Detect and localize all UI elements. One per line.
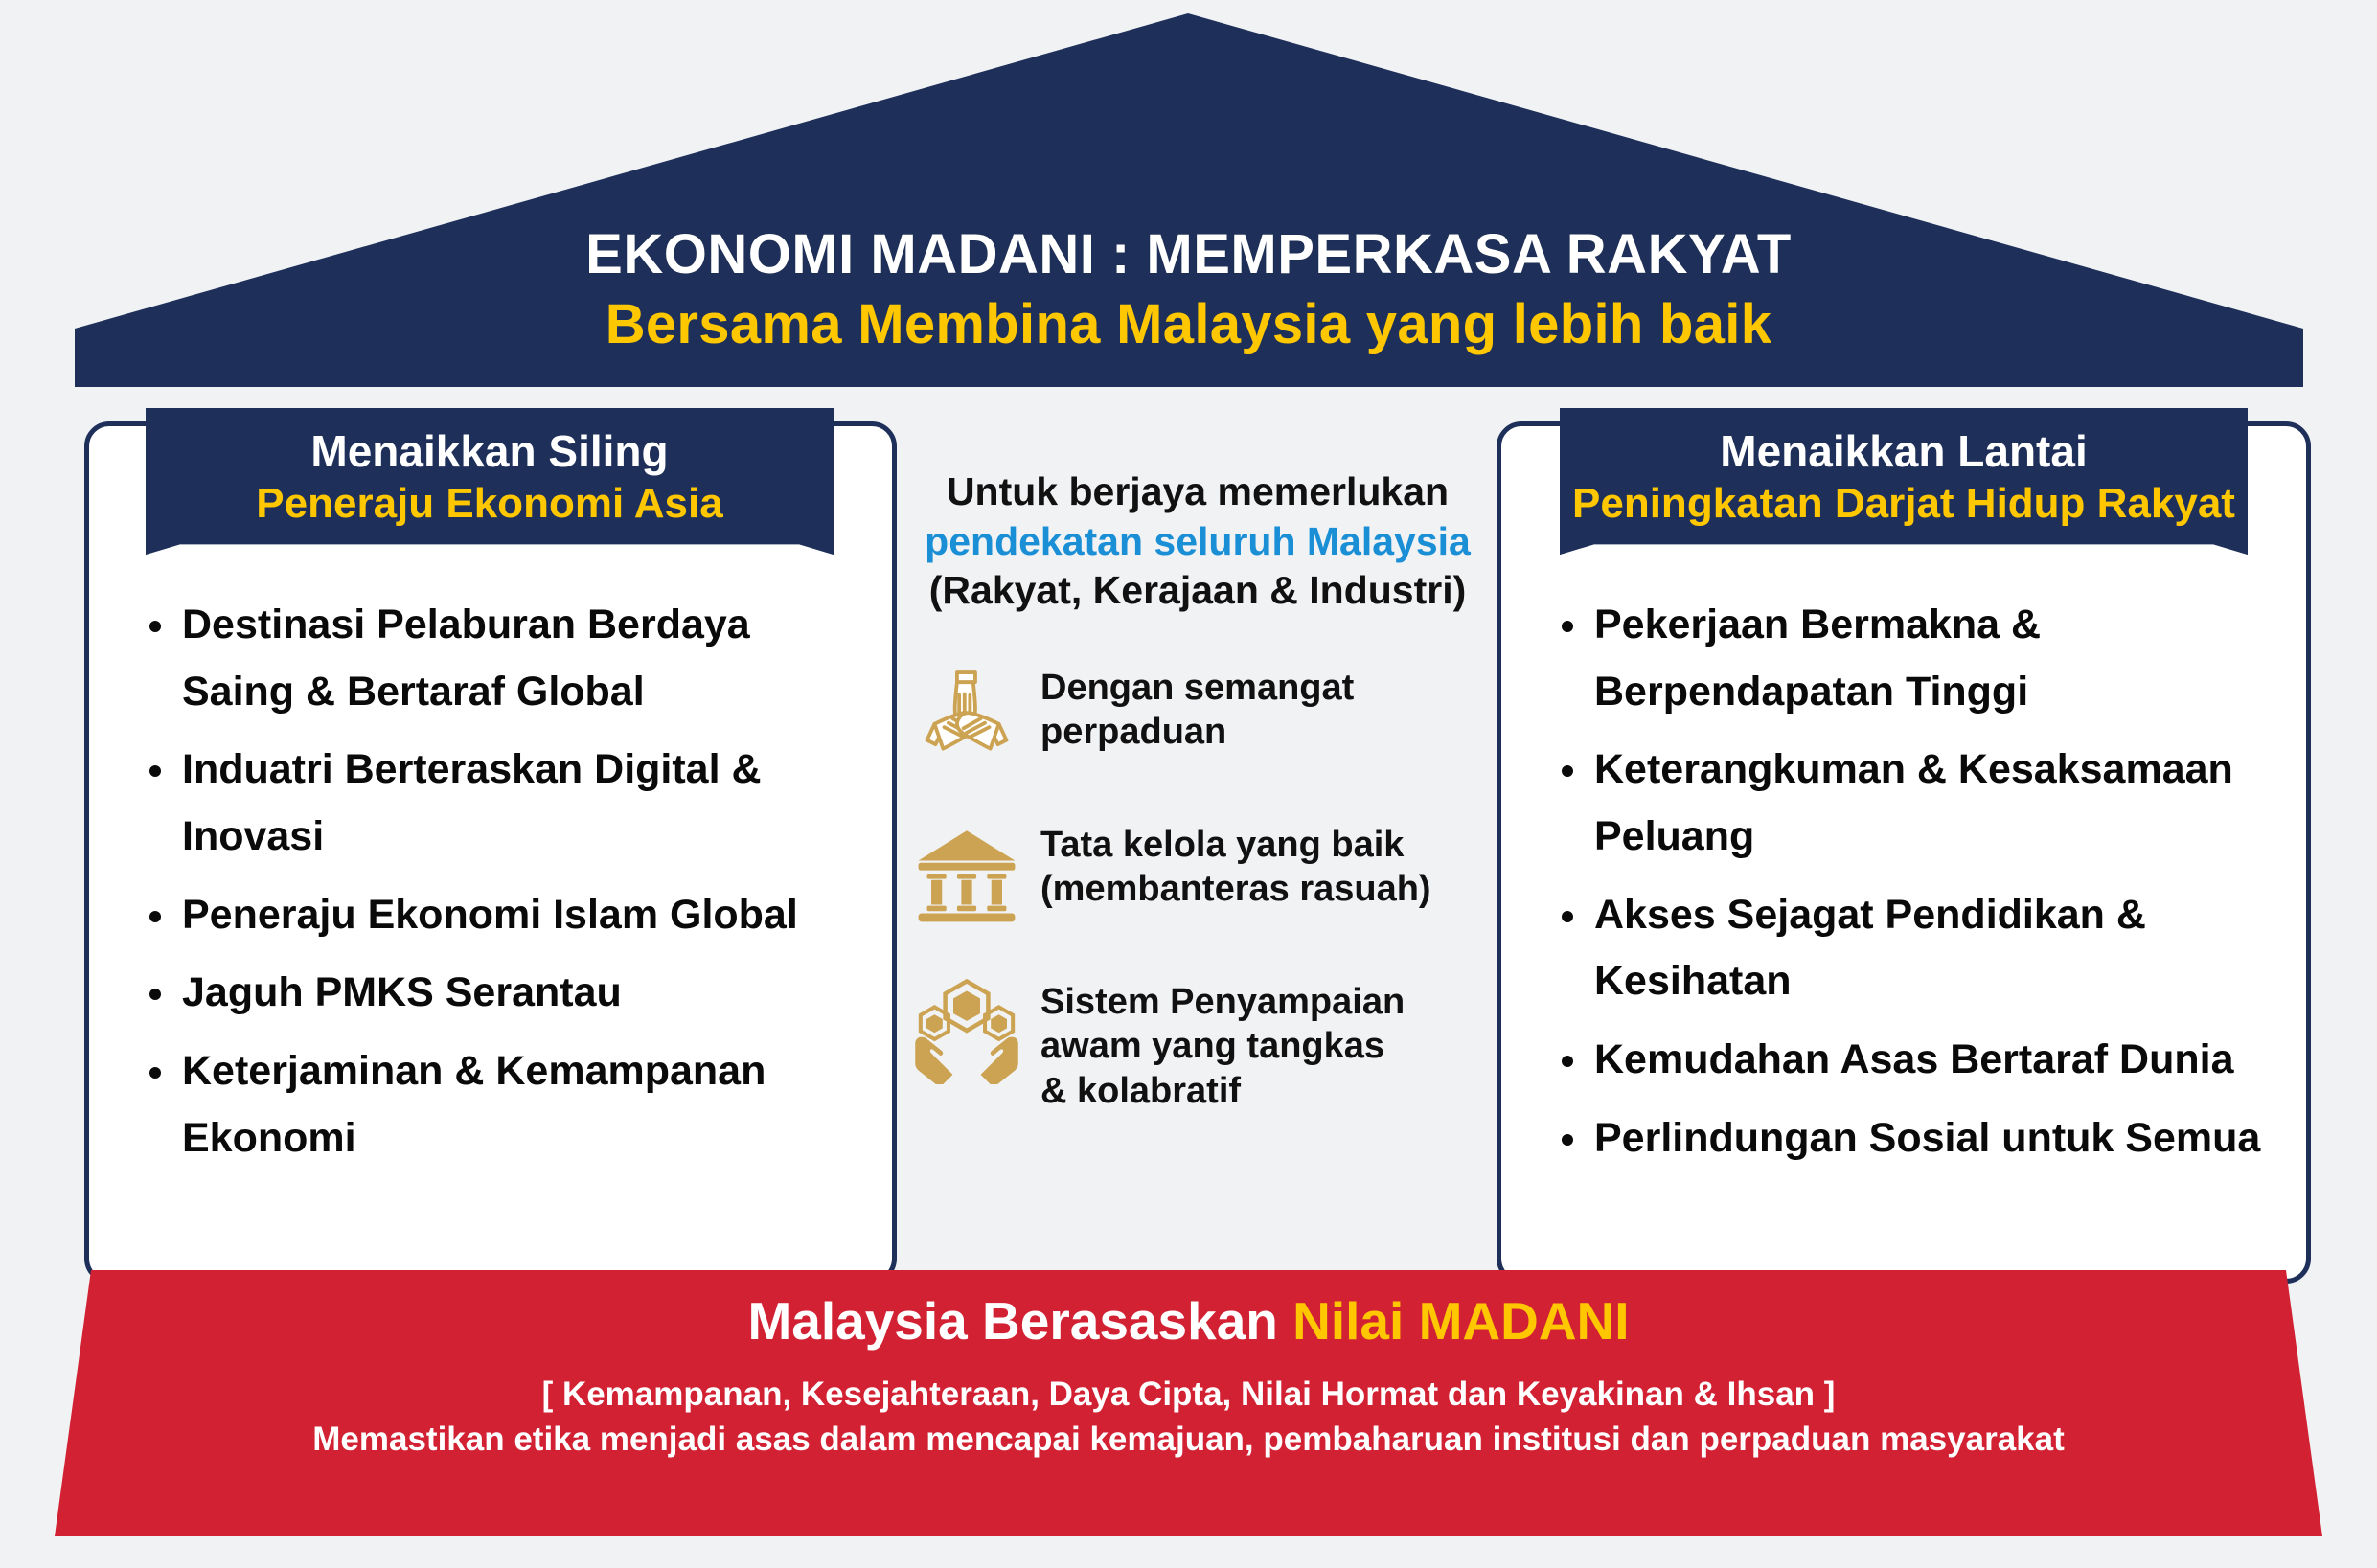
list-item-label: Keterjaminan & Kemampanan Ekonomi [182, 1048, 766, 1161]
list-item-label: Peneraju Ekonomi Islam Global [182, 892, 798, 938]
center-item-tata-kelola-text: Tata kelola yang baik (membanteras rasua… [1040, 817, 1431, 912]
center-item-perpaduan: Dengan semangat perpaduan [910, 660, 1485, 773]
center-item-line1: Sistem Penyampaian [1040, 980, 1405, 1024]
list-item: Destinasi Pelaburan Berdaya Saing & Bert… [144, 592, 862, 725]
list-item-label: Induatri Berteraskan Digital & Inovasi [182, 746, 762, 859]
bullet-dot-icon [1562, 911, 1573, 922]
center-item-penyampaian-text: Sistem Penyampaian awam yang tangkas & k… [1040, 974, 1405, 1113]
list-item-label: Pekerjaan Bermakna & Berpendapatan Tingg… [1594, 602, 2041, 715]
bullet-dot-icon [149, 621, 161, 632]
list-item-label: Jaguh PMKS Serantau [182, 969, 622, 1015]
left-pillar-banner-subtitle: Peneraju Ekonomi Asia [155, 479, 824, 530]
roof-shape-icon [0, 0, 2377, 387]
center-item-line1: Tata kelola yang baik [1040, 823, 1431, 867]
bullet-dot-icon [1562, 765, 1573, 777]
list-item-label: Destinasi Pelaburan Berdaya Saing & Bert… [182, 602, 750, 715]
left-pillar-bullet-list: Destinasi Pelaburan Berdaya Saing & Bert… [144, 592, 862, 1183]
center-item-line2: (membanteras rasuah) [1040, 867, 1431, 911]
three-hands-together-icon [910, 660, 1023, 773]
list-item: Kemudahan Asas Bertaraf Dunia [1556, 1027, 2313, 1094]
center-lead-highlight: pendekatan seluruh Malaysia [910, 517, 1485, 567]
center-item-tata-kelola: Tata kelola yang baik (membanteras rasua… [910, 817, 1485, 930]
list-item-label: Akses Sejagat Pendidikan & Kesihatan [1594, 892, 2146, 1005]
right-pillar-banner: Menaikkan Lantai Peningkatan Darjat Hidu… [1560, 408, 2248, 555]
bullet-dot-icon [1562, 1056, 1573, 1067]
bullet-dot-icon [1562, 1134, 1573, 1146]
list-item-label: Kemudahan Asas Bertaraf Dunia [1594, 1036, 2234, 1082]
center-item-line2: perpaduan [1040, 710, 1354, 754]
list-item: Perlindungan Sosial untuk Semua [1556, 1105, 2313, 1172]
bullet-dot-icon [149, 1067, 161, 1079]
center-item-line2: awam yang tangkas [1040, 1024, 1405, 1068]
bullet-dot-icon [149, 989, 161, 1000]
center-item-penyampaian: Sistem Penyampaian awam yang tangkas & k… [910, 974, 1485, 1113]
base-trapezoid-icon [0, 1266, 2377, 1544]
list-item: Keterangkuman & Kesaksamaan Peluang [1556, 737, 2313, 870]
hands-holding-hexagons-icon [910, 974, 1023, 1087]
left-pillar-banner: Menaikkan Siling Peneraju Ekonomi Asia [146, 408, 834, 555]
list-item: Akses Sejagat Pendidikan & Kesihatan [1556, 882, 2313, 1015]
roof-header: EKONOMI MADANI : MEMPERKASA RAKYAT Bersa… [0, 0, 2377, 387]
center-lead-line1: Untuk berjaya memerlukan [910, 467, 1485, 517]
list-item: Peneraju Ekonomi Islam Global [144, 882, 862, 949]
center-item-perpaduan-text: Dengan semangat perpaduan [1040, 660, 1354, 755]
bullet-dot-icon [1562, 621, 1573, 632]
list-item: Keterjaminan & Kemampanan Ekonomi [144, 1038, 862, 1171]
right-pillar-banner-subtitle: Peningkatan Darjat Hidup Rakyat [1569, 479, 2238, 530]
list-item: Induatri Berteraskan Digital & Inovasi [144, 737, 862, 870]
right-pillar-bullet-list: Pekerjaan Bermakna & Berpendapatan Tingg… [1556, 592, 2313, 1183]
list-item-label: Keterangkuman & Kesaksamaan Peluang [1594, 746, 2233, 859]
left-pillar-banner-title: Menaikkan Siling [155, 425, 824, 477]
center-item-line1: Dengan semangat [1040, 666, 1354, 710]
base-foundation [0, 1266, 2377, 1544]
bullet-dot-icon [149, 765, 161, 777]
list-item: Pekerjaan Bermakna & Berpendapatan Tingg… [1556, 592, 2313, 725]
center-lead-line3: (Rakyat, Kerajaan & Industri) [910, 566, 1485, 616]
classical-institution-building-icon [910, 817, 1023, 930]
center-item-line3: & kolabratif [1040, 1069, 1405, 1113]
right-pillar-banner-title: Menaikkan Lantai [1569, 425, 2238, 477]
center-lead-text: Untuk berjaya memerlukan pendekatan selu… [910, 467, 1485, 616]
bullet-dot-icon [149, 911, 161, 922]
center-column: Untuk berjaya memerlukan pendekatan selu… [910, 467, 1485, 1113]
list-item-label: Perlindungan Sosial untuk Semua [1594, 1115, 2260, 1161]
list-item: Jaguh PMKS Serantau [144, 960, 862, 1027]
